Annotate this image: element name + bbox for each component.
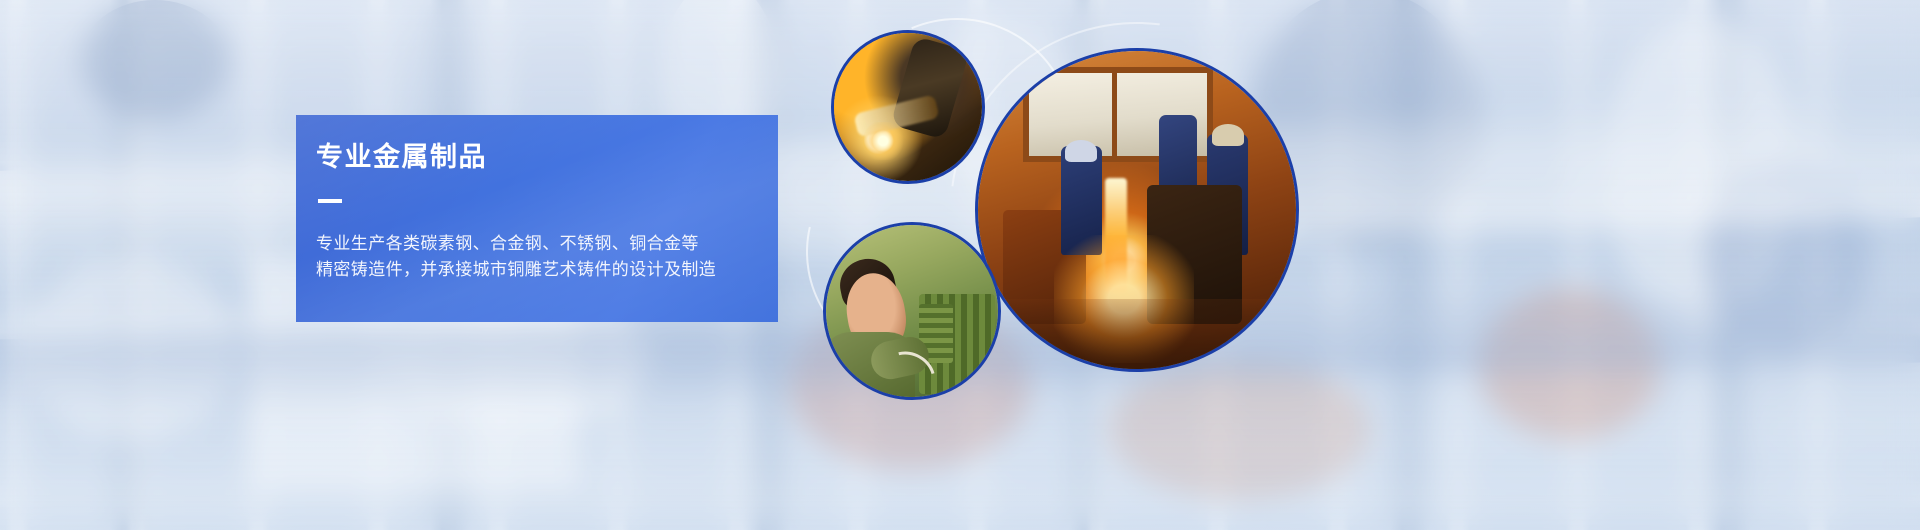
title-divider (318, 199, 342, 203)
welding-photo-image (834, 33, 982, 181)
weld-sparks (861, 122, 905, 160)
photo-collage (800, 0, 1480, 530)
panel-description: 专业生产各类碳素钢、合金钢、不锈钢、铜合金等 精密铸造件，并承接城市铜雕艺术铸件… (316, 231, 778, 284)
foundry-window-mullion (1112, 67, 1117, 162)
description-line-2: 精密铸造件，并承接城市铜雕艺术铸件的设计及制造 (316, 257, 778, 283)
assembly-photo (823, 222, 1001, 400)
caption-panel: 专业金属制品 专业生产各类碳素钢、合金钢、不锈钢、铜合金等 精密铸造件，并承接城… (296, 115, 778, 322)
hero-banner: 专业金属制品 专业生产各类碳素钢、合金钢、不锈钢、铜合金等 精密铸造件，并承接城… (0, 0, 1920, 530)
panel-title: 专业金属制品 (316, 143, 778, 173)
foundry-photo-image (978, 51, 1296, 369)
foundry-floor (978, 299, 1296, 369)
foundry-photo (975, 48, 1299, 372)
welding-photo (831, 30, 985, 184)
description-line-1: 专业生产各类碳素钢、合金钢、不锈钢、铜合金等 (316, 231, 778, 257)
assembly-photo-image (826, 225, 998, 397)
panel-content: 专业金属制品 专业生产各类碳素钢、合金钢、不锈钢、铜合金等 精密铸造件，并承接城… (296, 115, 778, 322)
foundry-worker-helmet (1065, 140, 1097, 162)
foundry-worker-helmet (1212, 124, 1244, 146)
